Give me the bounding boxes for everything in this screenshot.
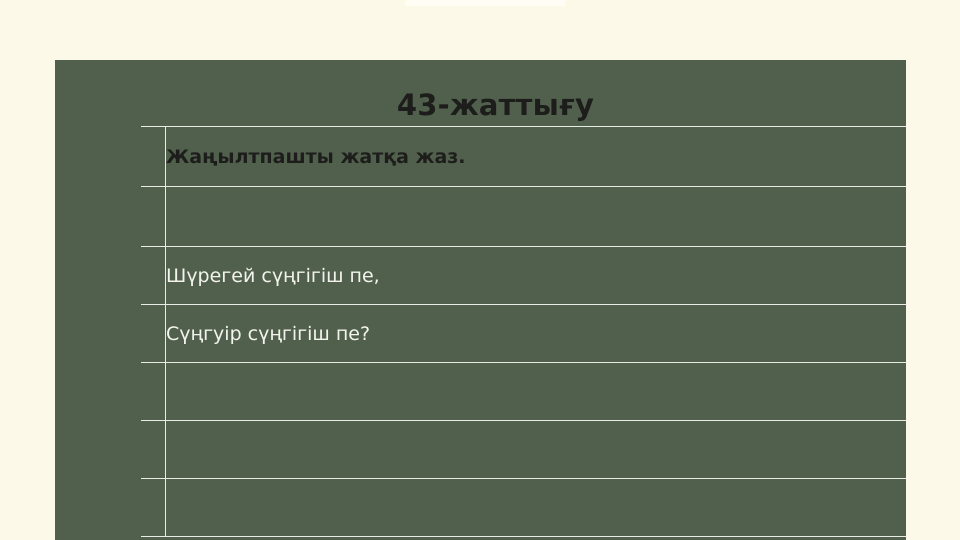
row-label-cell xyxy=(141,187,166,247)
verse-line-cell: Сүңгуір сүңгігіш пе? xyxy=(166,305,907,363)
page-title: 43-жаттығу xyxy=(55,88,906,122)
table-row xyxy=(141,421,906,479)
empty-cell xyxy=(166,187,907,247)
row-label-cell xyxy=(141,305,166,363)
table-row xyxy=(141,363,906,421)
row-label-cell xyxy=(141,247,166,305)
empty-cell xyxy=(166,479,907,537)
empty-cell xyxy=(166,421,907,479)
empty-cell xyxy=(166,363,907,421)
slide-panel: 43-жаттығу Жаңылтпашты жатқа жаз. Шүреге… xyxy=(55,60,906,540)
table-row xyxy=(141,479,906,537)
row-label-cell xyxy=(141,127,166,187)
table-row: Шүрегей сүңгігіш пе, xyxy=(141,247,906,305)
instruction-cell: Жаңылтпашты жатқа жаз. xyxy=(166,127,907,187)
verse-line-cell: Шүрегей сүңгігіш пе, xyxy=(166,247,907,305)
exercise-table: Жаңылтпашты жатқа жаз. Шүрегей сүңгігіш … xyxy=(141,126,906,537)
row-label-cell xyxy=(141,421,166,479)
table-row: Сүңгуір сүңгігіш пе? xyxy=(141,305,906,363)
row-label-cell xyxy=(141,479,166,537)
table-row: Жаңылтпашты жатқа жаз. xyxy=(141,127,906,187)
row-label-cell xyxy=(141,363,166,421)
table-row xyxy=(141,187,906,247)
top-highlight-strip xyxy=(405,0,565,6)
